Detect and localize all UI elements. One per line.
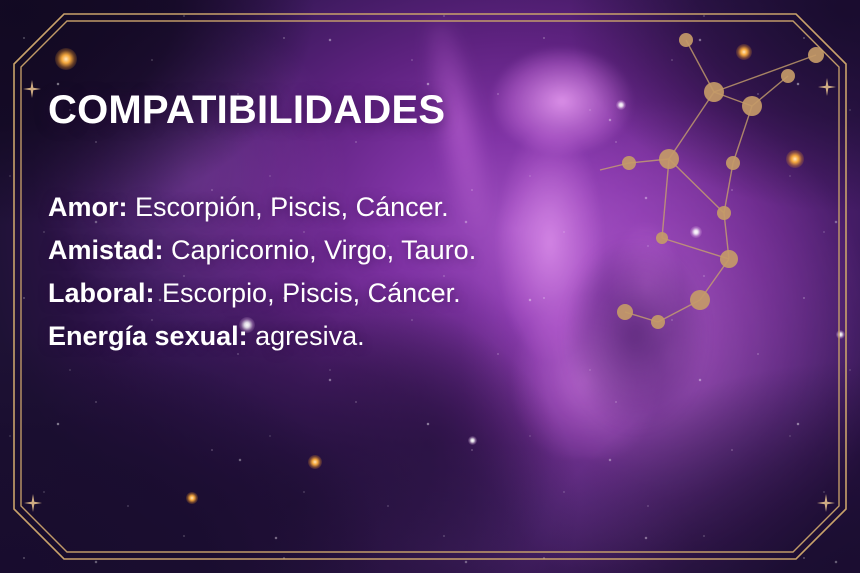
compatibility-value: agresiva. — [255, 321, 365, 351]
compatibility-row-amor: Amor: Escorpión, Piscis, Cáncer. — [48, 186, 668, 229]
compatibility-value: Escorpión, Piscis, Cáncer. — [135, 192, 449, 222]
four-point-star-icon — [24, 494, 42, 512]
compatibility-label: Amistad: — [48, 235, 164, 265]
compatibility-row-amistad: Amistad: Capricornio, Virgo, Tauro. — [48, 229, 668, 272]
compatibility-value: Escorpio, Piscis, Cáncer. — [162, 278, 461, 308]
compatibility-label: Energía sexual: — [48, 321, 248, 351]
page-title: COMPATIBILIDADES — [48, 90, 668, 130]
four-point-star-icon — [817, 494, 835, 512]
four-point-star-icon — [23, 80, 41, 98]
compatibility-label: Amor: — [48, 192, 128, 222]
zodiac-compatibility-card: COMPATIBILIDADES Amor: Escorpión, Piscis… — [0, 0, 860, 573]
four-point-star-icon — [818, 78, 836, 96]
compatibility-value: Capricornio, Virgo, Tauro. — [171, 235, 476, 265]
compatibility-label: Laboral: — [48, 278, 155, 308]
compatibility-row-energia-sexual: Energía sexual: agresiva. — [48, 315, 668, 358]
compatibility-row-laboral: Laboral: Escorpio, Piscis, Cáncer. — [48, 272, 668, 315]
content-block: COMPATIBILIDADES Amor: Escorpión, Piscis… — [48, 90, 668, 358]
